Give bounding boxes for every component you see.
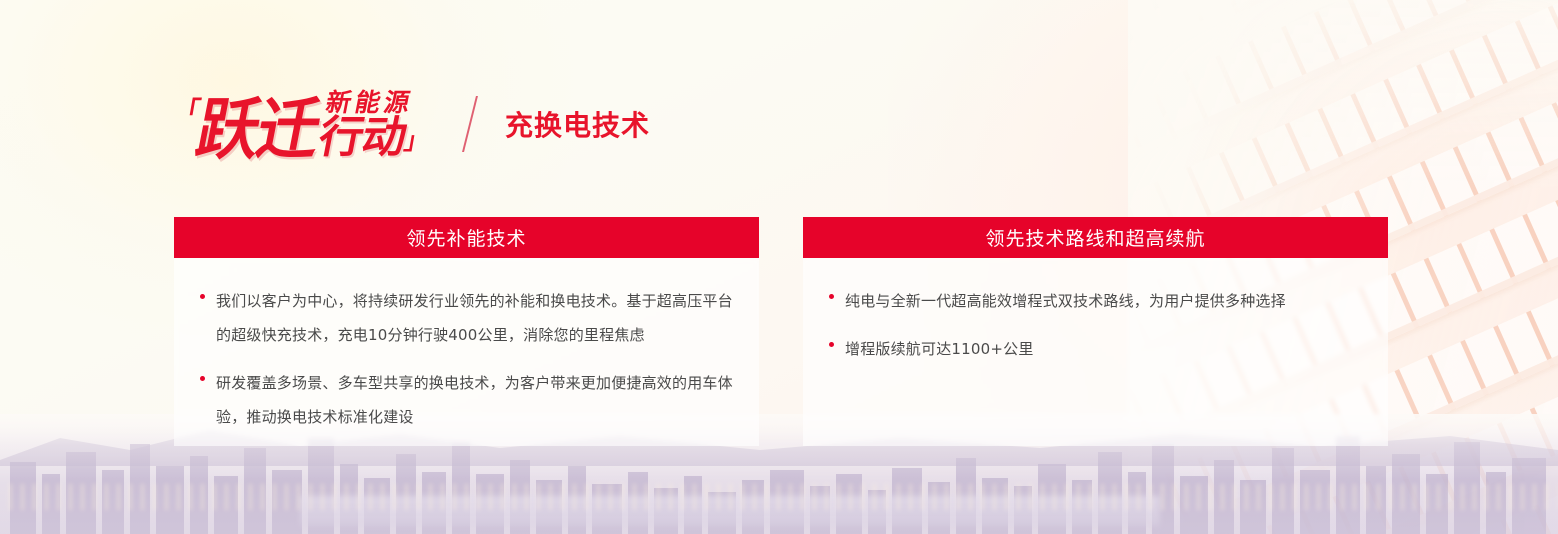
bullet-text: 研发覆盖多场景、多车型共享的换电技术，为客户带来更加便捷高效的用车体验，推动换电… (216, 366, 733, 434)
list-item: 增程版续航可达1100+公里 (829, 332, 1362, 366)
card-left-body: 我们以客户为中心，将持续研发行业领先的补能和换电技术。基于超高压平台的超级快充技… (174, 258, 759, 446)
card-left: 领先补能技术 我们以客户为中心，将持续研发行业领先的补能和换电技术。基于超高压平… (174, 217, 759, 446)
card-right-title: 领先技术路线和超高续航 (803, 217, 1388, 258)
logo-bracket-close: 」 (402, 121, 432, 156)
bullet-dot-icon (829, 342, 834, 347)
logo-stacked-text: 新能源 行动 (315, 90, 415, 159)
brand-header: 「 跃迁 新能源 行动 」 充换电技术 (174, 78, 650, 170)
bullet-text: 纯电与全新一代超高能效增程式双技术路线，为用户提供多种选择 (845, 284, 1286, 318)
bullet-dot-icon (200, 376, 205, 381)
list-item: 研发覆盖多场景、多车型共享的换电技术，为客户带来更加便捷高效的用车体验，推动换电… (200, 366, 733, 434)
card-right-body: 纯电与全新一代超高能效增程式双技术路线，为用户提供多种选择 增程版续航可达110… (803, 258, 1388, 446)
logo-main-text: 跃迁 (192, 99, 324, 161)
logo-top-text: 新能源 (324, 90, 416, 115)
logo-bracket-open: 「 (172, 98, 203, 124)
card-right-bullet-list: 纯电与全新一代超高能效增程式双技术路线，为用户提供多种选择 增程版续航可达110… (829, 284, 1362, 366)
banner-stage: 「 跃迁 新能源 行动 」 充换电技术 领先补能技术 我们以客户为中心，将持续研… (0, 0, 1558, 534)
bullet-text: 增程版续航可达1100+公里 (845, 332, 1034, 366)
list-item: 纯电与全新一代超高能效增程式双技术路线，为用户提供多种选择 (829, 284, 1362, 318)
card-left-title: 领先补能技术 (174, 217, 759, 258)
logo-mid-text: 行动 (315, 117, 410, 159)
brand-logo: 「 跃迁 新能源 行动 」 (174, 90, 429, 159)
page-title: 充换电技术 (505, 104, 650, 144)
bullet-text: 我们以客户为中心，将持续研发行业领先的补能和换电技术。基于超高压平台的超级快充技… (216, 284, 733, 352)
content-cards: 领先补能技术 我们以客户为中心，将持续研发行业领先的补能和换电技术。基于超高压平… (174, 217, 1388, 446)
card-left-bullet-list: 我们以客户为中心，将持续研发行业领先的补能和换电技术。基于超高压平台的超级快充技… (200, 284, 733, 434)
city-river (300, 496, 1160, 526)
title-divider-icon (462, 96, 478, 152)
city-lights (0, 484, 1558, 510)
card-right: 领先技术路线和超高续航 纯电与全新一代超高能效增程式双技术路线，为用户提供多种选… (803, 217, 1388, 446)
list-item: 我们以客户为中心，将持续研发行业领先的补能和换电技术。基于超高压平台的超级快充技… (200, 284, 733, 352)
bullet-dot-icon (829, 294, 834, 299)
bullet-dot-icon (200, 294, 205, 299)
